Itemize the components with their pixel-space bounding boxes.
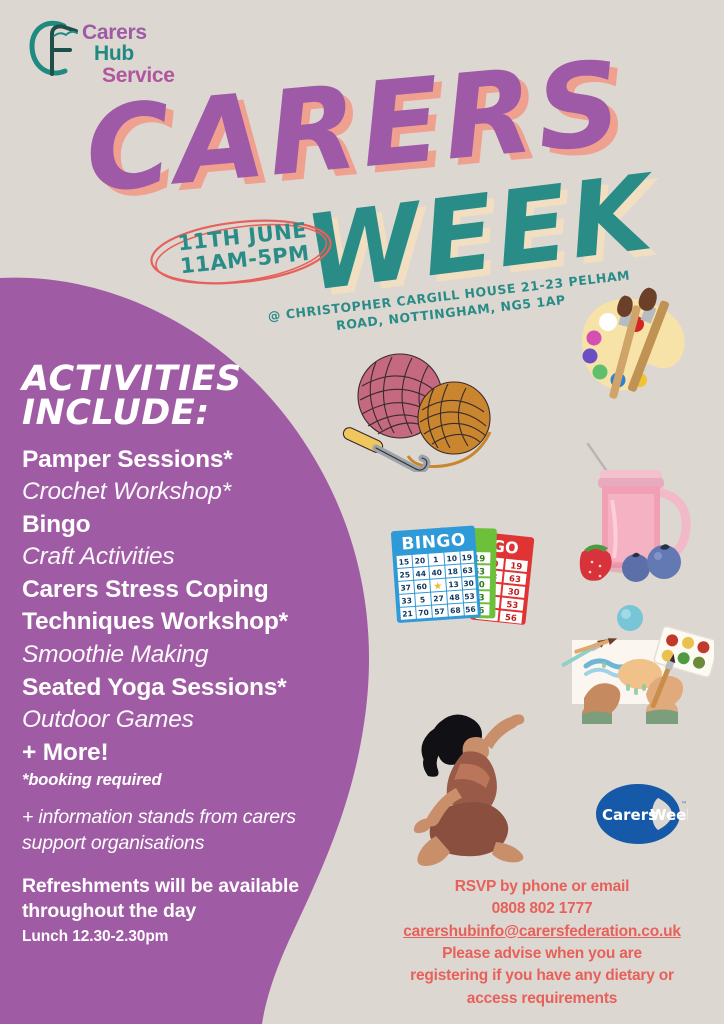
rsvp-phone[interactable]: 0808 802 1777 <box>372 898 712 920</box>
activities-panel: ACTIVITIES INCLUDE: Pamper Sessions* Cro… <box>22 362 352 946</box>
svg-text:30: 30 <box>507 587 520 598</box>
svg-text:44: 44 <box>415 569 426 579</box>
activity-item: Outdoor Games <box>22 704 352 737</box>
svg-text:33: 33 <box>401 596 412 606</box>
rsvp-block: RSVP by phone or email 0808 802 1777 car… <box>372 876 712 1010</box>
svg-text:20: 20 <box>414 556 425 566</box>
poster-canvas: Carers Hub Service CARERS WEEK 11TH JUNE… <box>0 0 724 1024</box>
svg-text:19: 19 <box>461 553 472 563</box>
svg-text:63: 63 <box>508 574 521 585</box>
svg-text:★: ★ <box>433 581 443 593</box>
rsvp-line-1: RSVP by phone or email <box>372 876 712 898</box>
svg-text:19: 19 <box>510 561 523 572</box>
bingo-cards-illustration: GO 1019 1863 1330 1853 856 O <box>388 518 546 630</box>
svg-text:70: 70 <box>418 608 429 618</box>
hands-watercolor-painting-illustration <box>542 602 714 724</box>
activity-item: Bingo <box>22 509 352 542</box>
svg-text:56: 56 <box>504 613 517 624</box>
smoothie-jar-illustration <box>562 440 712 588</box>
svg-text:25: 25 <box>399 570 410 580</box>
svg-text:56: 56 <box>465 605 476 615</box>
carers-week-logo-word2: Week <box>650 806 688 824</box>
svg-text:37: 37 <box>400 583 411 593</box>
activity-item: Seated Yoga Sessions* <box>22 672 352 705</box>
svg-text:53: 53 <box>464 592 475 602</box>
seated-yoga-figure-illustration <box>404 702 534 874</box>
rsvp-line-3: registering if you have any dietary or <box>372 965 712 987</box>
activity-item: Craft Activities <box>22 541 352 574</box>
rsvp-line-4: access requirements <box>372 988 712 1010</box>
svg-text:10: 10 <box>446 554 457 564</box>
activity-item: Carers Stress Coping <box>22 574 352 607</box>
activities-heading: ACTIVITIES INCLUDE: <box>22 362 352 431</box>
information-stands-note: + information stands from carers support… <box>22 805 352 856</box>
activity-item: Crochet Workshop* <box>22 476 352 509</box>
rsvp-line-2: Please advise when you are <box>372 943 712 965</box>
svg-text:15: 15 <box>398 557 409 567</box>
lunch-time-note: Lunch 12.30-2.30pm <box>22 928 352 946</box>
carers-week-logo: Carers Week ™ <box>588 782 688 846</box>
rsvp-email[interactable]: carershubinfo@carersfederation.co.uk <box>372 921 712 943</box>
svg-text:30: 30 <box>463 579 474 589</box>
svg-text:27: 27 <box>433 594 444 604</box>
svg-text:63: 63 <box>462 566 473 576</box>
carers-hub-service-logo: Carers Hub Service <box>24 14 214 94</box>
poster-title: CARERS WEEK <box>0 60 724 290</box>
activity-item: + More! <box>22 737 352 770</box>
svg-text:40: 40 <box>431 568 442 578</box>
svg-text:1: 1 <box>433 555 439 564</box>
svg-text:™: ™ <box>681 801 687 808</box>
svg-text:68: 68 <box>450 606 461 616</box>
svg-text:53: 53 <box>506 600 519 611</box>
activities-heading-line-1: ACTIVITIES <box>22 362 352 396</box>
logo-line-hub: Hub <box>94 43 175 64</box>
activity-item: Smoothie Making <box>22 639 352 672</box>
svg-text:13: 13 <box>448 580 459 590</box>
booking-required-note: *booking required <box>22 771 352 790</box>
activities-heading-line-2: INCLUDE: <box>22 396 352 430</box>
refreshments-note: Refreshments will be available throughou… <box>22 874 352 925</box>
svg-text:5: 5 <box>420 595 426 604</box>
logo-line-service: Service <box>102 65 175 86</box>
yarn-balls-crochet-hook-illustration <box>332 348 504 472</box>
svg-text:60: 60 <box>416 582 427 592</box>
svg-text:18: 18 <box>447 567 458 577</box>
svg-text:57: 57 <box>434 607 445 617</box>
svg-text:48: 48 <box>449 593 460 603</box>
logo-line-carers: Carers <box>82 22 175 43</box>
activity-item: Techniques Workshop* <box>22 606 352 639</box>
svg-text:21: 21 <box>402 609 413 619</box>
carers-week-logo-word1: Carers <box>602 806 657 824</box>
activity-item: Pamper Sessions* <box>22 444 352 477</box>
